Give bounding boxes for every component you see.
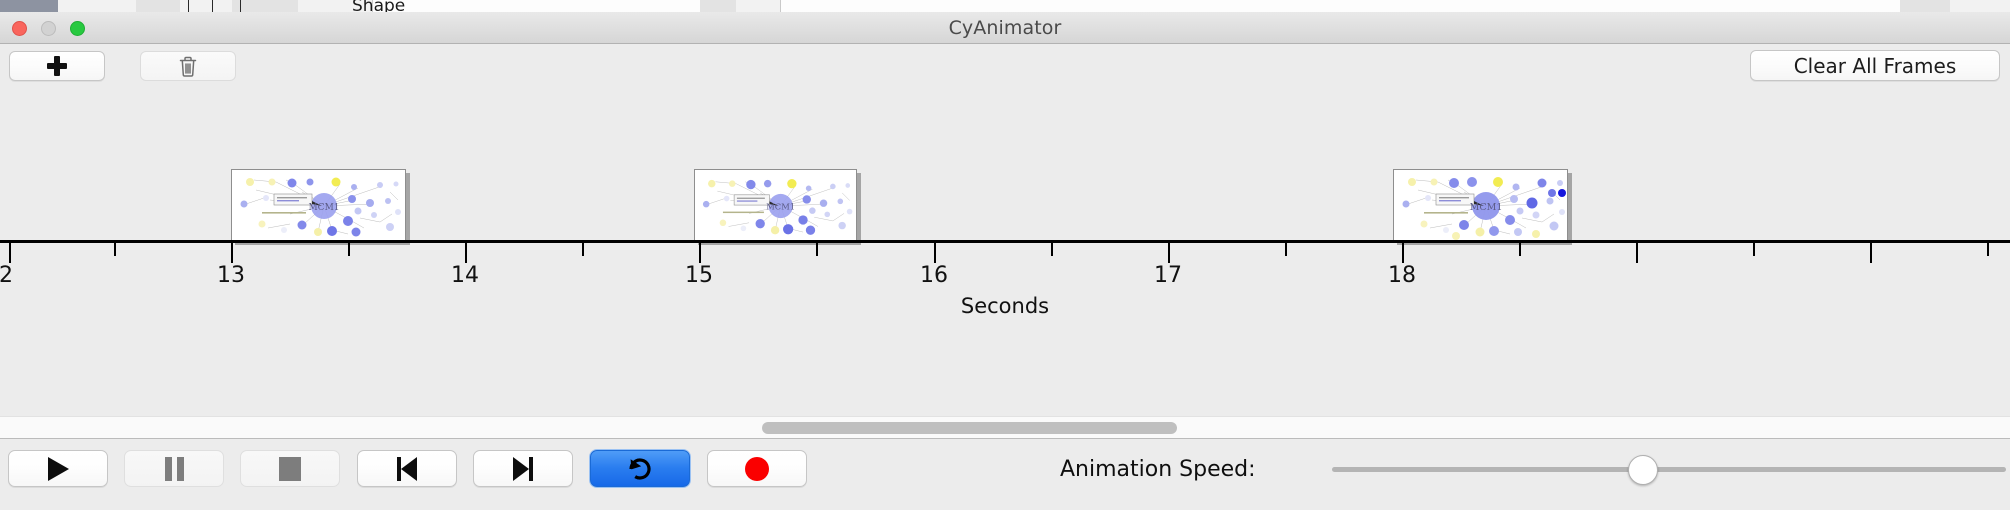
record-icon: [745, 457, 769, 481]
axis-tick-minor: [582, 243, 584, 256]
play-button[interactable]: [8, 450, 108, 487]
add-frame-button[interactable]: [9, 51, 105, 81]
toolbar: Clear All Frames: [0, 44, 2010, 88]
transport-bar: Animation Speed:: [0, 438, 2010, 510]
animation-speed-label: Animation Speed:: [1060, 457, 1256, 482]
stop-button[interactable]: [240, 450, 340, 487]
svg-text:MCM1: MCM1: [308, 203, 339, 213]
timeline-panel[interactable]: MCM1: [0, 87, 2010, 411]
pause-icon: [165, 457, 184, 481]
skip-previous-icon: [397, 457, 417, 481]
axis-tick-minor: [1285, 243, 1287, 256]
axis-tick-major: [9, 243, 11, 263]
timeline-frame-thumbnail[interactable]: MCM1: [1393, 169, 1568, 241]
svg-text:MCM1: MCM1: [766, 202, 795, 212]
axis-tick-minor: [1051, 243, 1053, 256]
window-title: CyAnimator: [0, 12, 2010, 44]
axis-tick-label: 13: [217, 263, 245, 288]
bg-chip: [1900, 0, 1951, 12]
slider-thumb[interactable]: [1628, 455, 1658, 485]
timeline-horizontal-scrollbar[interactable]: [0, 416, 2010, 439]
axis-tick-major: [1636, 243, 1638, 263]
bg-tick: [240, 0, 241, 12]
pause-button[interactable]: [124, 450, 224, 487]
bg-tick: [212, 0, 213, 12]
axis-tick-major: [1402, 243, 1404, 263]
axis-tick-minor: [1987, 243, 1989, 256]
plus-icon: [47, 56, 67, 76]
frame-track[interactable]: MCM1: [0, 87, 2010, 317]
bg-chip: [232, 0, 299, 12]
axis-tick-minor: [816, 243, 818, 256]
axis-tick-label: 16: [920, 263, 948, 288]
bg-chip: [700, 0, 737, 12]
axis-tick-major: [465, 243, 467, 263]
axis-tick-major: [1870, 243, 1872, 263]
clear-all-frames-button[interactable]: Clear All Frames: [1750, 50, 2000, 81]
axis-tick-label: 17: [1154, 263, 1182, 288]
axis-tick-major: [231, 243, 233, 263]
animation-speed-slider[interactable]: [1332, 467, 2006, 472]
bg-chip: [1950, 0, 2010, 12]
axis-tick-major: [1168, 243, 1170, 263]
axis-tick-minor: [114, 243, 116, 256]
play-icon: [48, 457, 69, 481]
timeline-frame-thumbnail[interactable]: MCM1: [231, 169, 406, 241]
title-bar: CyAnimator: [0, 12, 2010, 44]
clear-all-frames-label: Clear All Frames: [1794, 54, 1957, 78]
record-button[interactable]: [707, 450, 807, 487]
loop-button[interactable]: [590, 450, 690, 487]
bg-tick: [188, 0, 189, 12]
axis-tick-label: 18: [1388, 263, 1416, 288]
trash-icon: [178, 55, 198, 77]
axis-tick-label: 14: [451, 263, 479, 288]
svg-text:MCM1: MCM1: [1470, 202, 1503, 213]
delete-frame-button[interactable]: [140, 51, 236, 81]
slider-track: [1332, 467, 2006, 472]
axis-tick-major: [699, 243, 701, 263]
axis-tick-major: [934, 243, 936, 263]
axis-tick-label: 2: [0, 263, 13, 288]
bg-chip: [0, 0, 59, 12]
timeline-axis: [0, 240, 2010, 243]
timeline-frame-thumbnail[interactable]: MCM1: [694, 169, 857, 241]
axis-tick-minor: [1753, 243, 1755, 256]
bg-chip: [58, 0, 137, 12]
axis-title-seconds: Seconds: [0, 294, 2010, 318]
skip-to-start-button[interactable]: [357, 450, 457, 487]
axis-tick-minor: [348, 243, 350, 256]
axis-tick-minor: [1519, 243, 1521, 256]
cyanimator-window: Shape CyAnimator Clear All Frames: [0, 0, 2010, 510]
bg-chip: [736, 0, 781, 12]
scrollbar-thumb[interactable]: [762, 422, 1177, 434]
bg-chip: [136, 0, 181, 12]
stop-icon: [279, 457, 301, 481]
skip-next-icon: [513, 457, 533, 481]
axis-tick-label: 15: [685, 263, 713, 288]
loop-icon: [626, 455, 654, 483]
skip-to-end-button[interactable]: [473, 450, 573, 487]
